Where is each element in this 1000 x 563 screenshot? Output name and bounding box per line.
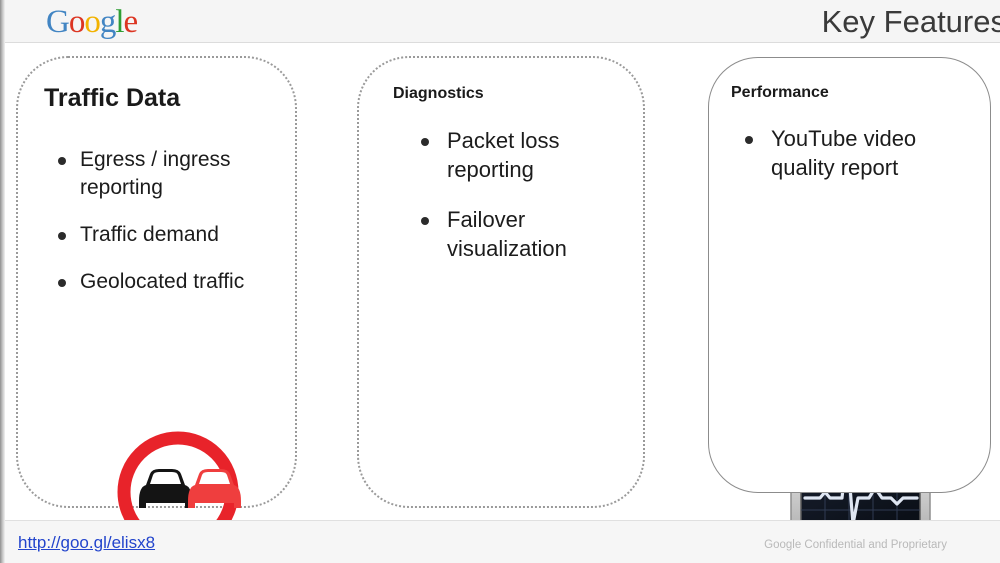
logo-letter-o2: o [84, 4, 100, 40]
bullet-list-traffic-data: Egress / ingress reporting Traffic deman… [40, 146, 290, 315]
panel-title-diagnostics: Diagnostics [393, 85, 484, 103]
panel-performance: Performance YouTube video quality report [708, 57, 991, 493]
google-logo: Google [46, 3, 137, 41]
logo-letter-g1: G [46, 4, 69, 40]
confidentiality-note: Google Confidential and Proprietary [764, 539, 947, 551]
list-item: Packet loss reporting [407, 126, 642, 184]
list-item: Egress / ingress reporting [40, 146, 290, 202]
list-item: Geolocated traffic [40, 268, 290, 296]
list-item: YouTube video quality report [731, 124, 976, 182]
bullet-list-performance: YouTube video quality report [731, 124, 976, 203]
slide-header: Google Key Features [5, 0, 1000, 43]
list-item: Failover visualization [407, 205, 642, 263]
bullet-list-diagnostics: Packet loss reporting Failover visualiza… [407, 126, 642, 284]
list-item: Traffic demand [40, 221, 290, 249]
footer-link[interactable]: http://goo.gl/elisx8 [18, 533, 155, 553]
panel-title-performance: Performance [731, 84, 829, 102]
slide-canvas: Google Key Features Traffic Data Egress … [0, 0, 1000, 563]
panel-traffic-data: Traffic Data Egress / ingress reporting … [16, 56, 297, 508]
logo-letter-o1: o [69, 4, 85, 40]
logo-letter-g2: g [100, 4, 116, 40]
logo-letter-e: e [124, 4, 138, 40]
slide-left-edge [0, 0, 5, 563]
slide-footer: http://goo.gl/elisx8 Google Confidential… [5, 520, 1000, 563]
logo-letter-l: l [115, 4, 123, 40]
page-title: Key Features [822, 2, 1000, 42]
panel-diagnostics: Diagnostics Packet loss reporting Failov… [357, 56, 645, 508]
panel-title-traffic-data: Traffic Data [44, 84, 180, 113]
